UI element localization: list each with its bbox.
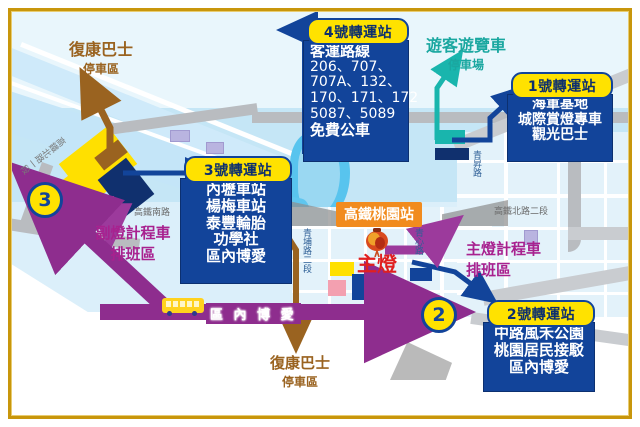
station-2-pill[interactable]: 2號轉運站	[487, 300, 595, 327]
station-1-pill[interactable]: 1號轉運站	[511, 72, 613, 99]
station-3-pill[interactable]: 3號轉運站	[184, 156, 292, 183]
marker-3[interactable]: 3	[27, 182, 63, 218]
hsr-taoyuan-station-tag: 高鐵桃園站	[336, 202, 422, 227]
main-lantern-icon	[360, 227, 394, 257]
marker-2-label: 2	[432, 304, 445, 326]
marker-2[interactable]: 2	[421, 297, 457, 333]
route-banner: 區 內 博 愛	[206, 303, 301, 324]
transit-shuttle-map: 高鐵桃園站 主燈 區 內 博 愛 3 2 4號轉運站 客運路線 206、707、…	[0, 0, 640, 427]
shuttle-bus-icon	[162, 298, 204, 313]
station-4-pill[interactable]: 4號轉運站	[307, 18, 409, 45]
marker-3-label: 3	[38, 189, 51, 211]
